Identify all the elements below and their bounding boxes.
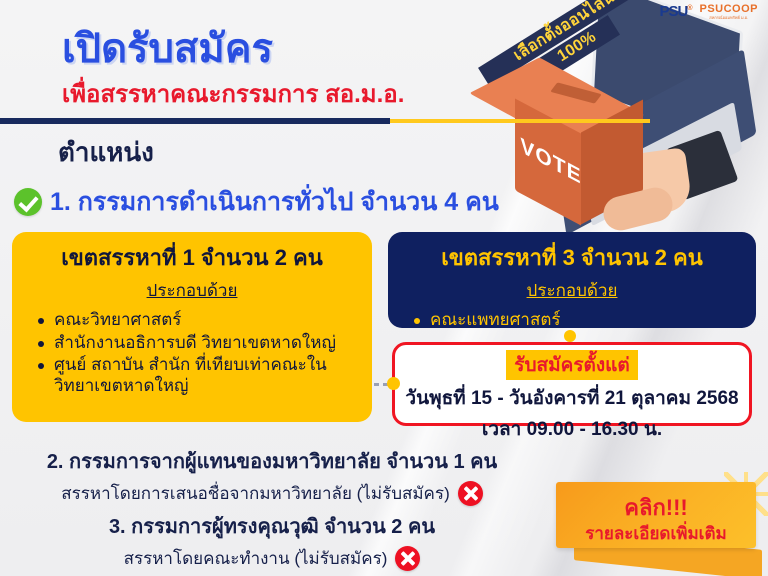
x-circle-icon (458, 481, 483, 506)
list-item-2-sub-label: สรรหาโดยการเสนอชื่อจากมหาวิทยาลัย (ไม่รั… (61, 480, 449, 507)
connector-dot-top (564, 330, 576, 342)
x-circle-icon (395, 546, 420, 571)
list-item: ศูนย์ สถาบัน สำนัก ที่เทียบเท่าคณะใน วิท… (38, 355, 362, 396)
zone-card-3-subheading: ประกอบด้วย (398, 277, 746, 304)
page-subtitle: เพื่อสรรหาคณะกรรมการ สอ.ม.อ. (62, 74, 404, 113)
section-heading-position: ตำแหน่ง (58, 132, 154, 173)
more-details-button-line2: รายละเอียดเพิ่มเติม (556, 520, 756, 547)
list-item-3-sub-label: สรรหาโดยคณะทำงาน (ไม่รับสมัคร) (124, 545, 388, 572)
more-details-button[interactable]: คลิก!!! รายละเอียดเพิ่มเติม (556, 478, 768, 576)
ballot-box-illustration: VOTE (497, 46, 667, 216)
zone-card-1: เขตสรรหาที่ 1 จำนวน 2 คน ประกอบด้วย คณะว… (12, 232, 372, 422)
list-item-2: 2. กรรมการจากผู้แทนของมหาวิทยาลัย จำนวน … (12, 445, 532, 507)
list-item: คณะแพทยศาสตร์ (414, 310, 746, 331)
page-title: เปิดรับสมัคร (62, 16, 273, 80)
psu-logo-text: PSU (659, 3, 687, 20)
psucoop-logo: PSUCOOP สหกรณ์ออมทรัพย์ ม.อ. (699, 4, 758, 20)
list-item-2-sub: สรรหาโดยการเสนอชื่อจากมหาวิทยาลัย (ไม่รั… (61, 480, 482, 507)
application-period-heading: รับสมัครตั้งแต่ (506, 350, 638, 380)
psu-logo: PSU® (659, 3, 691, 20)
divider (0, 118, 768, 124)
zone-card-1-heading: เขตสรรหาที่ 1 จำนวน 2 คน (22, 240, 362, 275)
application-period-time: เวลา 09.00 - 16.30 น. (395, 414, 749, 444)
logo-group: PSU® PSUCOOP สหกรณ์ออมทรัพย์ ม.อ. (659, 3, 758, 20)
divider-navy-segment (0, 118, 390, 124)
list-item-1-label: 1. กรรมการดำเนินการทั่วไป จำนวน 4 คน (50, 182, 499, 222)
zone-card-3: เขตสรรหาที่ 3 จำนวน 2 คน ประกอบด้วย คณะแ… (388, 232, 756, 328)
zone-card-3-list: คณะแพทยศาสตร์ (398, 310, 746, 331)
list-item-2-heading: 2. กรรมการจากผู้แทนของมหาวิทยาลัย จำนวน … (12, 445, 532, 477)
psucoop-logo-subtext: สหกรณ์ออมทรัพย์ ม.อ. (699, 16, 758, 20)
list-item-1: 1. กรรมการดำเนินการทั่วไป จำนวน 4 คน (14, 182, 499, 222)
poster-root: เลือกตั้งออนไลน์ 100% VOTE PSU® PSUCOOP … (0, 0, 768, 576)
zone-card-1-list: คณะวิทยาศาสตร์ สำนักงานอธิการบดี วิทยาเข… (22, 310, 362, 397)
check-circle-icon (14, 188, 42, 216)
list-item: คณะวิทยาศาสตร์ (38, 310, 362, 331)
zone-card-3-heading: เขตสรรหาที่ 3 จำนวน 2 คน (398, 240, 746, 275)
psu-logo-registered-icon: ® (687, 5, 691, 12)
list-item-3-sub: สรรหาโดยคณะทำงาน (ไม่รับสมัคร) (124, 545, 421, 572)
list-item-3: 3. กรรมการผู้ทรงคุณวุฒิ จำนวน 2 คน สรรหา… (12, 510, 532, 572)
divider-gold-segment (390, 119, 650, 123)
psucoop-logo-text: PSUCOOP (699, 4, 758, 15)
zone-card-1-subheading: ประกอบด้วย (22, 277, 362, 304)
list-item: สำนักงานอธิการบดี วิทยาเขตหาดใหญ่ (38, 333, 362, 354)
application-period-dates: วันพุธที่ 15 - วันอังคารที่ 21 ตุลาคม 25… (395, 383, 749, 413)
connector-dot-left (387, 377, 400, 390)
application-period-card: รับสมัครตั้งแต่ วันพุธที่ 15 - วันอังคาร… (392, 342, 752, 426)
list-item-3-heading: 3. กรรมการผู้ทรงคุณวุฒิ จำนวน 2 คน (12, 510, 532, 542)
